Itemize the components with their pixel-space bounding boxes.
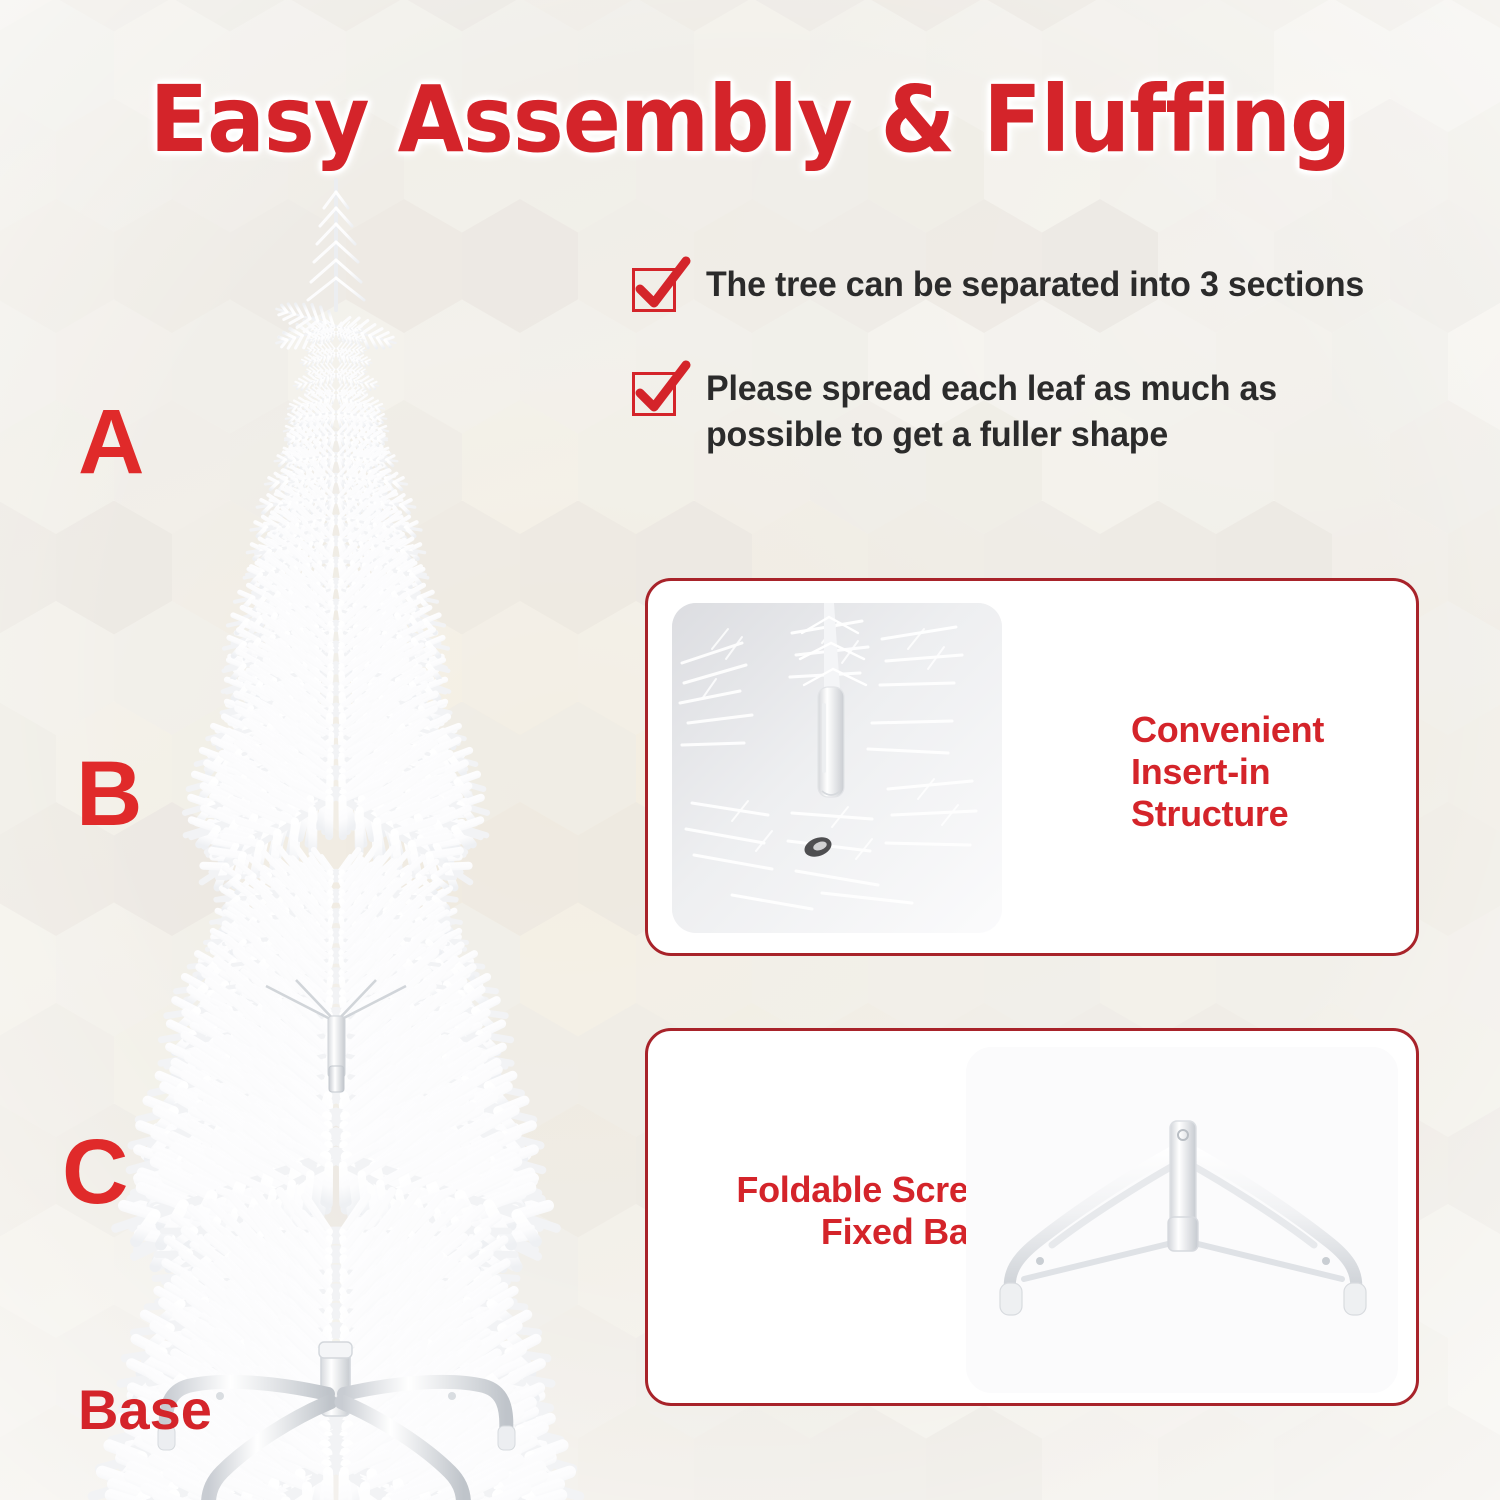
foldable-tree-stand-photo xyxy=(966,1047,1398,1393)
infographic-page: Easy Assembly & Fluffing xyxy=(0,0,1500,1500)
checkmark-icon xyxy=(632,268,676,312)
bullet-text: The tree can be separated into 3 section… xyxy=(706,262,1364,308)
section-label-base: Base xyxy=(78,1382,212,1438)
tree-section-a xyxy=(175,180,497,913)
list-item: The tree can be separated into 3 section… xyxy=(632,262,1402,312)
tree-branch-insert-closeup-photo xyxy=(672,603,1002,933)
panel-label-insert-structure: Convenient Insert-in Structure xyxy=(1131,709,1416,834)
product-image-christmas-tree xyxy=(70,150,630,1500)
bullet-text: Please spread each leaf as much as possi… xyxy=(706,366,1381,457)
section-label-c: C xyxy=(62,1126,128,1218)
checkmark-icon xyxy=(632,372,676,416)
panel-label-foldable-base: Foldable Screw-Fixed Base xyxy=(678,1169,1008,1253)
list-item: Please spread each leaf as much as possi… xyxy=(632,366,1402,457)
section-label-a: A xyxy=(78,396,144,488)
feature-panel-insert-structure: Convenient Insert-in Structure xyxy=(645,578,1419,956)
feature-panel-foldable-base: Foldable Screw-Fixed Base xyxy=(645,1028,1419,1406)
feature-bullet-list: The tree can be separated into 3 section… xyxy=(632,262,1402,511)
section-label-b: B xyxy=(76,748,142,840)
